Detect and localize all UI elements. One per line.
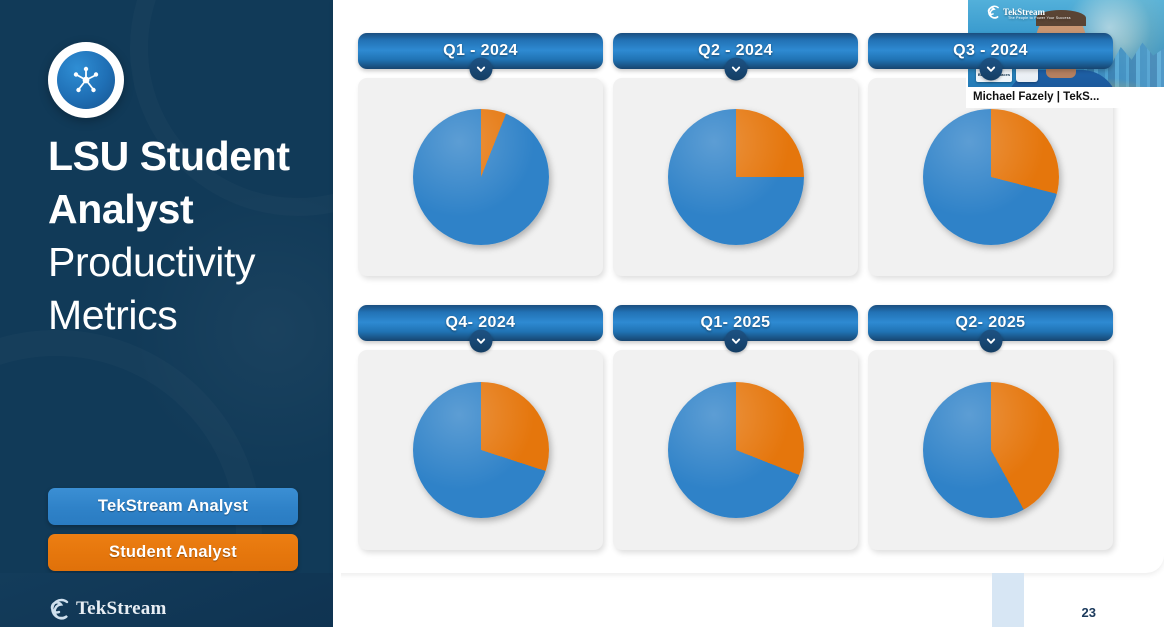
chevron-down-icon[interactable] [469,330,492,353]
network-node-icon [57,51,115,109]
page-title-line-2: Analyst [48,183,316,236]
pie-chart-q3-2024 [923,109,1059,245]
quarter-cell-q1-2025: Q1- 2025 [613,305,858,550]
chart-legend: TekStream Analyst Student Analyst [48,488,298,580]
quarter-cell-q2-2024: Q2 - 2024 [613,33,858,276]
panel-edge-left [333,573,341,627]
chevron-down-icon[interactable] [469,58,492,81]
quarter-cell-q1-2024: Q1 - 2024 [358,33,603,276]
chart-card-q2-2025 [868,350,1113,550]
tekstream-swirl-icon [986,5,1000,19]
quarter-cell-q2-2025: Q2- 2025 [868,305,1113,550]
tekstream-swirl-icon [48,598,70,620]
presenter-name-bar: Michael Fazely | TekS... [968,87,1164,106]
page-title-line-4: Metrics [48,289,316,342]
chart-card-q2-2024 [613,78,858,276]
pie-slices [923,382,1059,518]
tekstream-logo-badge [48,42,124,118]
pie-chart-q2-2025 [923,382,1059,518]
slide-root: LSU Student Analyst Productivity Metrics… [0,0,1164,627]
chevron-down-icon[interactable] [724,330,747,353]
legend-label: TekStream Analyst [98,497,248,516]
page-title: LSU Student Analyst Productivity Metrics [48,130,316,342]
footer-logo-wordmark: TekStream [76,598,166,620]
left-title-panel: LSU Student Analyst Productivity Metrics… [0,0,333,600]
quarter-cell-q4-2024: Q4- 2024 [358,305,603,550]
chevron-down-icon[interactable] [979,58,1002,81]
pie-slices [923,109,1059,245]
pie-slices [668,382,804,518]
pie-chart-q2-2024 [668,109,804,245]
pie-chart-q1-2024 [413,109,549,245]
pie-chart-q4-2024 [413,382,549,518]
chart-card-q4-2024 [358,350,603,550]
legend-label: Student Analyst [109,543,237,562]
chart-card-q1-2025 [613,350,858,550]
legend-item-student-analyst[interactable]: Student Analyst [48,534,298,571]
page-title-line-1: LSU Student [48,130,316,183]
legend-item-tekstream-analyst[interactable]: TekStream Analyst [48,488,298,525]
page-title-line-3: Productivity [48,236,316,289]
footer-logo: TekStream [48,598,166,620]
video-tekstream-logo: TekStream The People to Power Your Succe… [986,5,1045,19]
chart-card-q1-2024 [358,78,603,276]
quarter-grid: Q1 - 2024 Q2 - 2024 [358,33,1143,550]
presenter-name: Michael Fazely | TekS... [973,91,1099,103]
page-number: 23 [1082,605,1096,620]
pie-slices [413,382,549,518]
pie-slices [668,109,804,245]
pie-slices [413,109,549,245]
chevron-down-icon[interactable] [724,58,747,81]
chevron-down-icon[interactable] [979,330,1002,353]
pie-chart-q1-2025 [668,382,804,518]
video-brand-tagline: The People to Power Your Success [1008,16,1071,20]
panel-edge-accent [992,573,1024,627]
